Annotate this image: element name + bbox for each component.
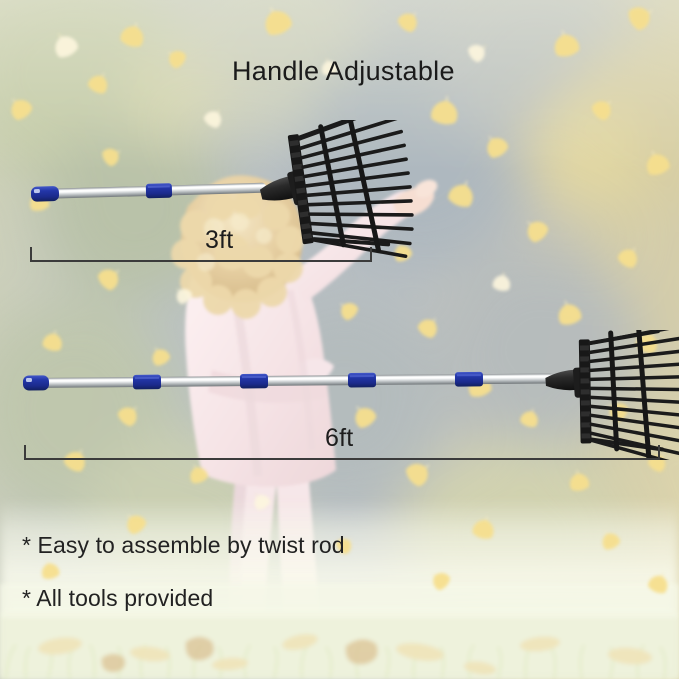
dimension-6ft-label: 6ft bbox=[325, 424, 353, 453]
dimension-3ft bbox=[30, 240, 372, 262]
bullet-assemble: * Easy to assemble by twist rod bbox=[22, 532, 345, 559]
dimension-3ft-tick-right bbox=[370, 247, 372, 262]
dimension-6ft-bar bbox=[24, 458, 660, 460]
bullet-tools: * All tools provided bbox=[22, 585, 213, 612]
page-title: Handle Adjustable bbox=[232, 56, 455, 87]
dimension-6ft-tick-left bbox=[24, 445, 26, 460]
dimension-3ft-tick-left bbox=[30, 247, 32, 262]
infographic-canvas: 3ft bbox=[0, 0, 679, 679]
dimension-3ft-label: 3ft bbox=[205, 226, 233, 255]
dimension-3ft-bar bbox=[30, 260, 372, 262]
dimension-6ft-tick-right bbox=[658, 445, 660, 460]
